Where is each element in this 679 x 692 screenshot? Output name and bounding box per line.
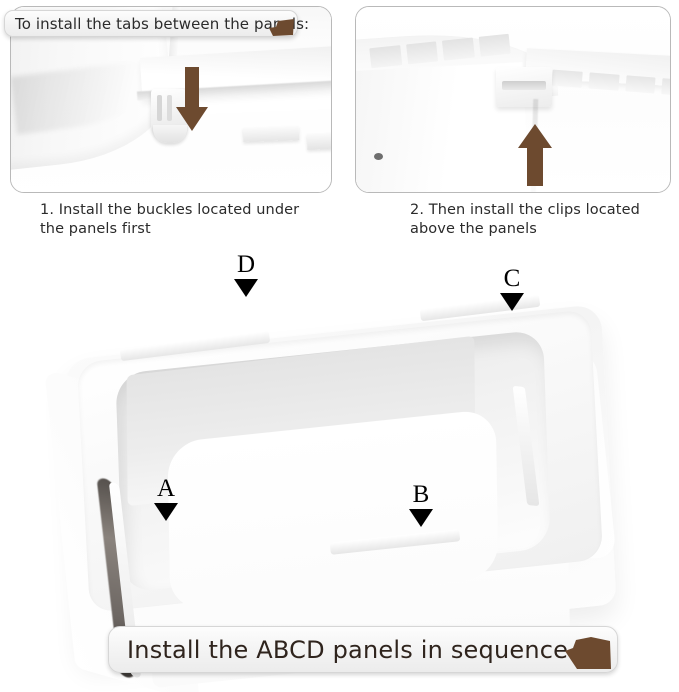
panel-marker-b: B [401, 482, 441, 527]
up-arrow-icon [516, 122, 554, 188]
header-label-text: To install the tabs between the panels: [15, 15, 309, 33]
down-triangle-icon [500, 293, 524, 311]
marker-letter: B [401, 482, 441, 508]
marker-letter: D [226, 252, 266, 278]
footer-label-bubble: Install the ABCD panels in sequence [108, 626, 618, 673]
down-arrow-icon [174, 67, 210, 133]
box-inner-floor [167, 408, 498, 611]
hero-product-image [0, 236, 679, 692]
step-2-caption: 2. Then install the clips located above … [410, 201, 670, 239]
marker-letter: A [146, 476, 186, 502]
panel-tab-2 [307, 132, 331, 149]
down-triangle-icon [409, 509, 433, 527]
step-1-caption: 1. Install the buckles located under the… [40, 201, 310, 239]
panel-marker-c: C [492, 266, 532, 311]
step-2-image-frame [355, 6, 671, 193]
marker-letter: C [492, 266, 532, 292]
brown-pointer-icon [267, 15, 295, 37]
panel-pin [374, 153, 383, 160]
header-label-bubble: To install the tabs between the panels: [4, 10, 298, 37]
step-2-photo [356, 7, 670, 192]
down-triangle-icon [154, 503, 178, 521]
brown-pointer-icon [563, 635, 613, 671]
clip-slot [502, 81, 546, 90]
down-triangle-icon [234, 279, 258, 297]
panel-tab-1 [243, 126, 299, 142]
panel-marker-a: A [146, 476, 186, 521]
panel-marker-d: D [226, 252, 266, 297]
footer-label-text: Install the ABCD panels in sequence [127, 636, 568, 664]
